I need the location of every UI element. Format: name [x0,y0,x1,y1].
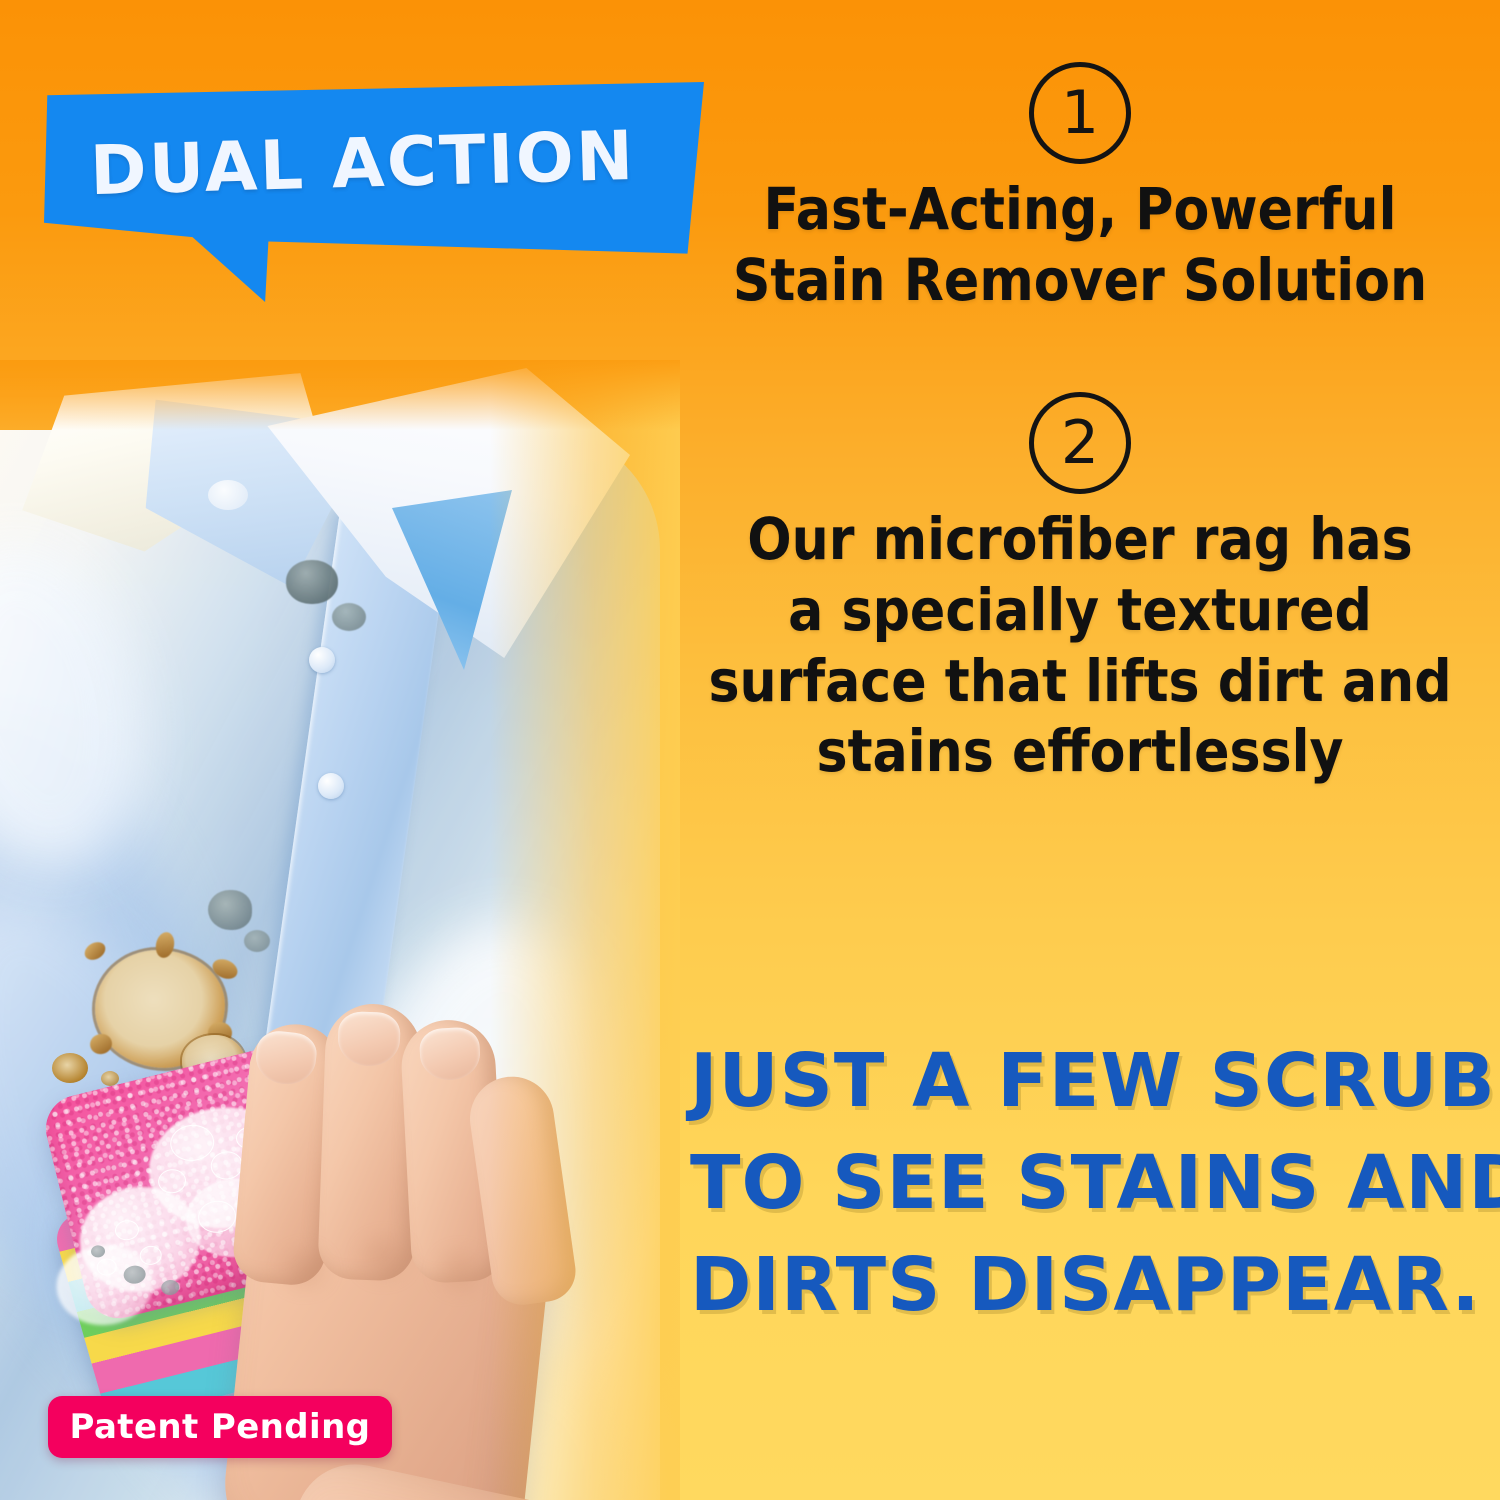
step-1-line-2: Stain Remover Solution [660,245,1500,316]
headline-line-3: DIRTS DISAPPEAR. [690,1234,1480,1336]
step-1-line-1: Fast-Acting, Powerful [660,174,1500,245]
step-2-line-4: stains effortlessly [660,716,1500,787]
step-2-line-3: surface that lifts dirt and [660,646,1500,717]
knuckle-shadow [348,1234,420,1282]
shirt-button [309,647,335,673]
collar-stud [286,560,338,604]
promo-headline: JUST A FEW SCRUBS TO SEE STAINS AND DIRT… [690,1030,1480,1336]
knuckle-shadow [426,1248,494,1294]
step-number-1-badge: 1 [1029,62,1131,164]
step-1: 1 Fast-Acting, Powerful Stain Remover So… [660,62,1500,316]
patent-pending-badge: Patent Pending [48,1396,392,1458]
collar-notch [208,480,248,510]
step-2-line-1: Our microfiber rag has [660,504,1500,575]
dual-action-banner: DUAL ACTION [44,82,704,302]
step-2-line-2: a specially textured [660,575,1500,646]
step-2-text: Our microfiber rag has a specially textu… [660,504,1500,787]
stain-droplet [244,930,270,952]
knuckle-shadow [270,1246,340,1292]
shirt-button [318,773,344,799]
patent-pending-label: Patent Pending [70,1407,371,1447]
headline-line-2: TO SEE STAINS AND [690,1132,1480,1234]
stain-droplet [208,890,252,930]
step-2: 2 Our microfiber rag has a specially tex… [660,392,1500,787]
step-1-text: Fast-Acting, Powerful Stain Remover Solu… [660,174,1500,316]
product-photo [0,360,680,1500]
product-infographic-poster: DUAL ACTION 1 Fast-Acting, Powerful Stai… [0,0,1500,1500]
headline-line-1: JUST A FEW SCRUBS [690,1030,1480,1132]
banner-label: DUAL ACTION [89,116,671,211]
step-number-2-badge: 2 [1029,392,1131,494]
collar-stud [332,603,366,631]
